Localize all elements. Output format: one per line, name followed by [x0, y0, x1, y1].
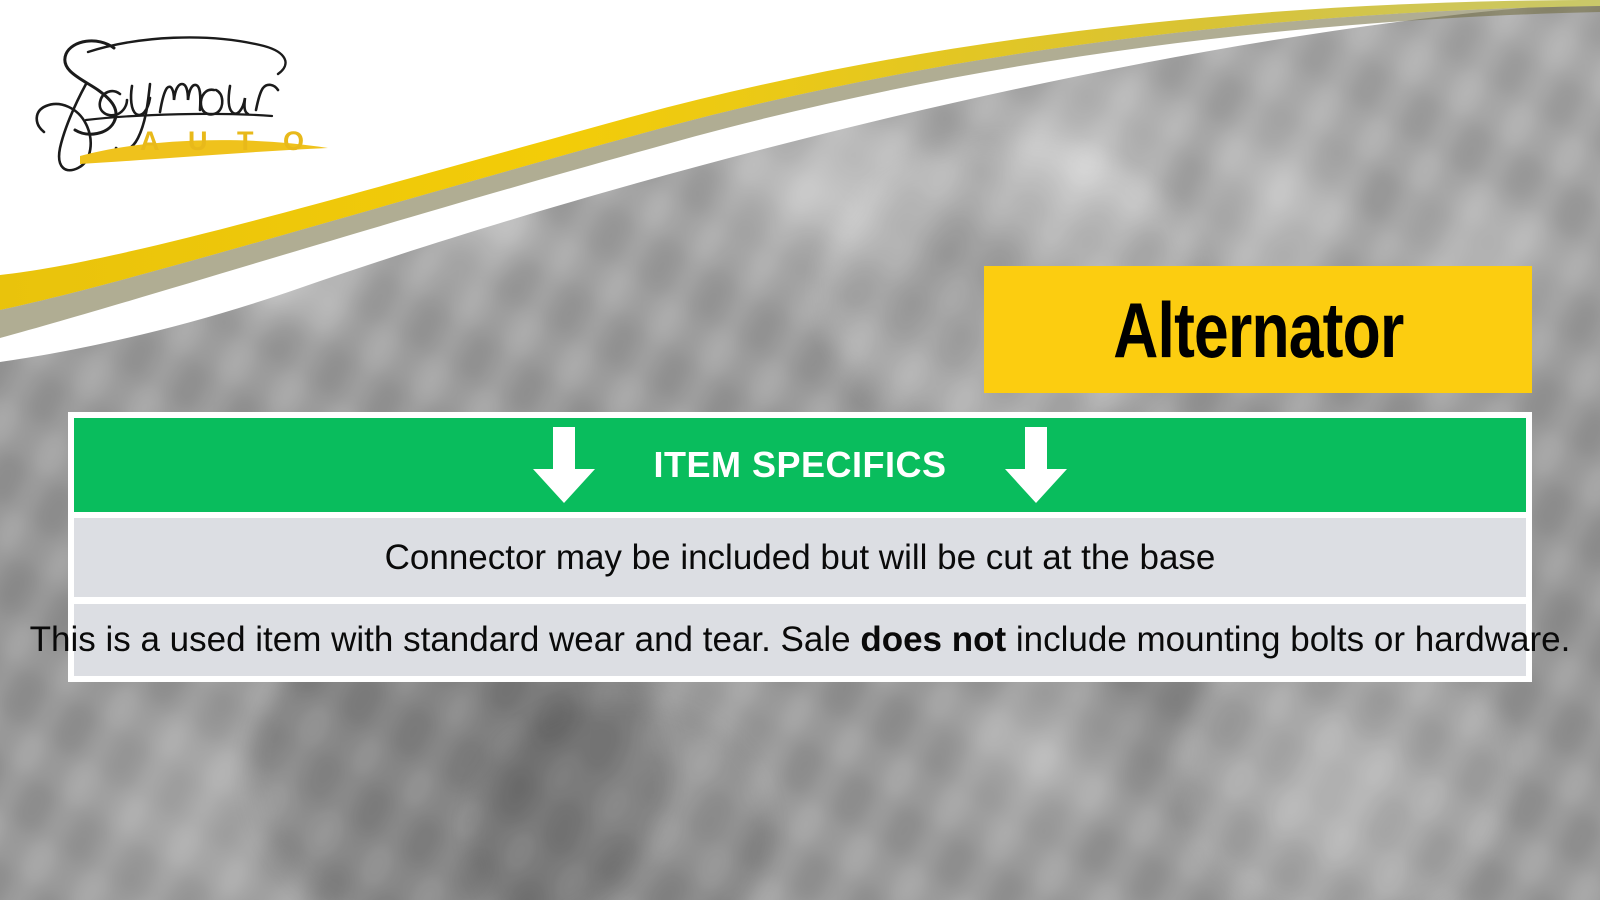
spec-row-connector: Connector may be included but will be cu… — [74, 518, 1526, 597]
disclaimer-suffix: include mounting bolts or hardware. — [1006, 620, 1570, 659]
disclaimer-prefix: This is a used item with standard wear a… — [30, 620, 861, 659]
item-specifics-label: ITEM SPECIFICS — [653, 444, 946, 486]
product-title: Alternator — [1113, 291, 1403, 369]
spec-row-connector-text: Connector may be included but will be cu… — [385, 538, 1216, 578]
disclaimer-emphasis: does not — [860, 620, 1006, 659]
brand-logo: A U T O — [28, 22, 338, 172]
logo-auto-text: A U T O — [140, 126, 315, 157]
item-specifics-header: ITEM SPECIFICS — [74, 418, 1526, 512]
down-arrow-icon-left — [531, 425, 597, 505]
listing-banner: A U T O Alternator ITEM SPECIFICS Connec… — [0, 0, 1600, 900]
down-arrow-icon-right — [1003, 425, 1069, 505]
spec-row-disclaimer-text: This is a used item with standard wear a… — [30, 620, 1571, 660]
spec-row-disclaimer: This is a used item with standard wear a… — [74, 604, 1526, 676]
item-specifics-panel: ITEM SPECIFICS Connector may be included… — [68, 412, 1532, 682]
product-title-banner: Alternator — [984, 266, 1532, 393]
